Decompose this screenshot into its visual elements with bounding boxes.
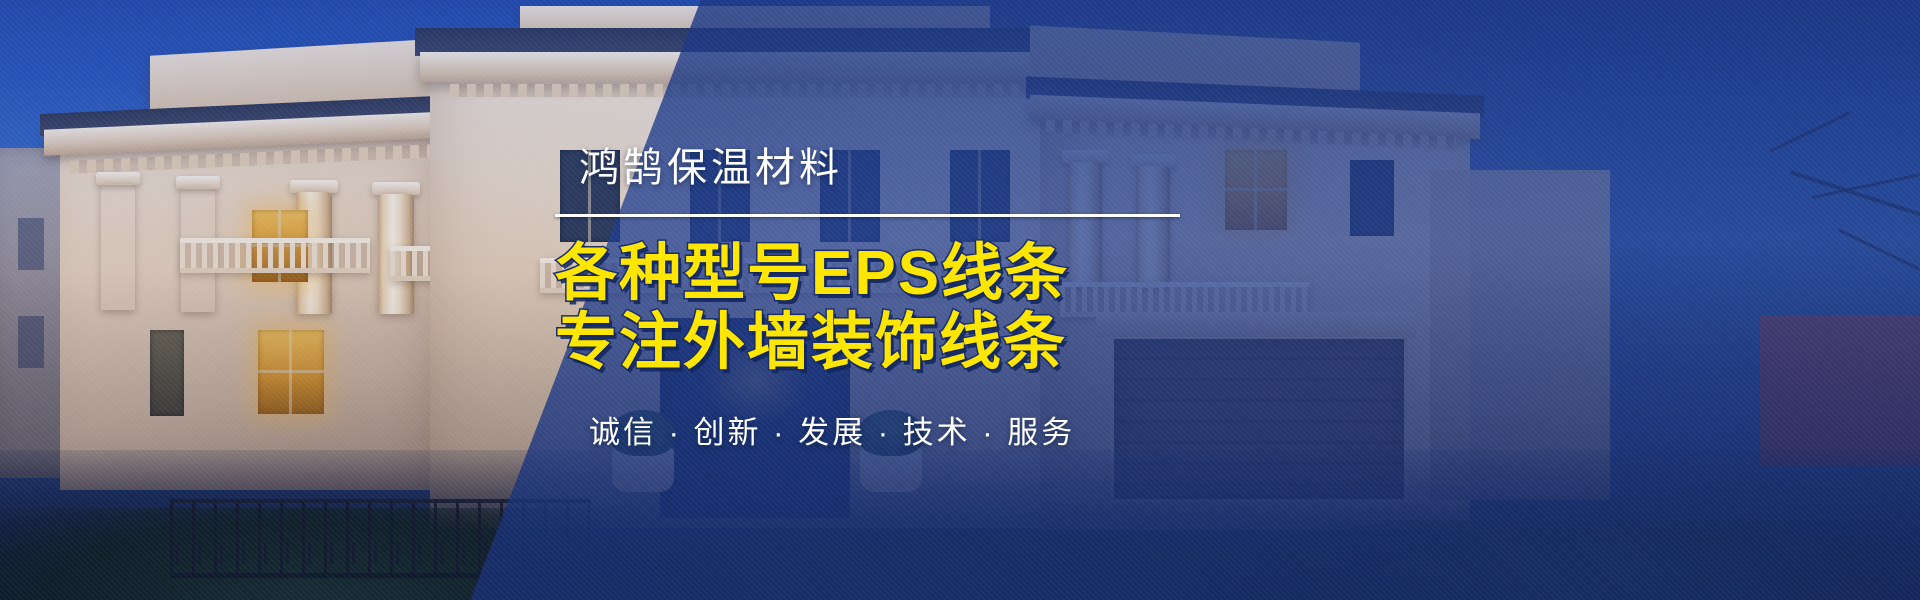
window-lit bbox=[258, 330, 324, 414]
tagline: 诚信 · 创新 · 发展 · 技术 · 服务 bbox=[589, 407, 1075, 452]
iron-fence-detail bbox=[170, 542, 590, 564]
red-structure bbox=[1760, 315, 1920, 465]
window bbox=[150, 330, 184, 416]
banner-text-block: 鸿鹄保温材料 各种型号EPS线条 专注外墙装饰线条 诚信 · 创新 · 发展 ·… bbox=[555, 0, 1255, 600]
column bbox=[101, 184, 135, 310]
hedge-row bbox=[1280, 520, 1920, 600]
iron-fence bbox=[170, 499, 590, 578]
divider-rule bbox=[555, 214, 1180, 217]
headline: 各种型号EPS线条 专注外墙装饰线条 bbox=[555, 239, 1069, 378]
headline-line-1: 各种型号EPS线条 bbox=[555, 239, 1069, 308]
company-name: 鸿鹄保温材料 bbox=[579, 148, 843, 188]
balustrade bbox=[180, 238, 370, 273]
window bbox=[1350, 160, 1394, 236]
headline-line-2: 专注外墙装饰线条 bbox=[555, 308, 1069, 377]
banner-root: 鸿鹄保温材料 各种型号EPS线条 专注外墙装饰线条 诚信 · 创新 · 发展 ·… bbox=[0, 0, 1920, 600]
